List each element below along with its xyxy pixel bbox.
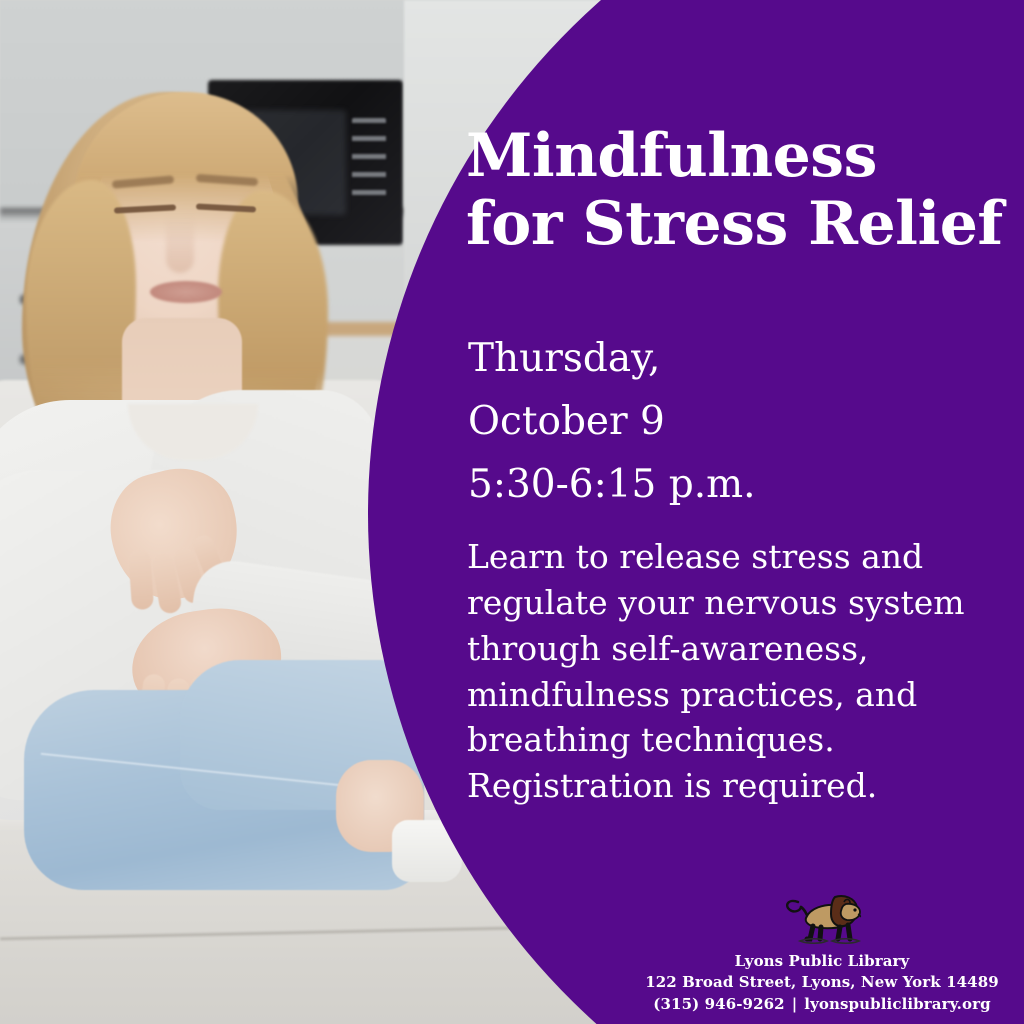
description-line-6: Registration is required. [467,763,1012,809]
description-line-5: breathing techniques. [467,717,1012,763]
event-description: Learn to release stress and regulate you… [467,534,1012,809]
lips [150,281,222,303]
title-line-2: for Stress Relief [466,189,1003,259]
footer: Lyons Public Library 122 Broad Street, L… [620,884,1024,1015]
nose [166,215,194,273]
event-day: Thursday, [468,327,1013,390]
event-date: October 9 [468,390,1013,453]
footer-phone[interactable]: (315) 946-9262 [653,995,784,1013]
footer-contact-row: (315) 946-9262|lyonspubliclibrary.org [620,994,1024,1015]
footer-website[interactable]: lyonspubliclibrary.org [804,995,990,1013]
footer-contact-block: Lyons Public Library 122 Broad Street, L… [620,951,1024,1015]
flyer-content: Mindfulness for Stress Relief Thursday, … [466,0,1011,1024]
footer-address: 122 Broad Street, Lyons, New York 14489 [620,972,1024,993]
event-datetime: Thursday, October 9 5:30-6:15 p.m. [468,327,1013,517]
page-title: Mindfulness for Stress Relief [466,122,1011,259]
description-line-1: Learn to release stress and [467,534,1012,580]
description-line-4: mindfulness practices, and [467,672,1012,718]
title-line-1: Mindfulness [466,121,877,191]
description-line-3: through self-awareness, [467,626,1012,672]
footer-organization: Lyons Public Library [620,951,1024,972]
description-line-2: regulate your nervous system [467,580,1012,626]
microwave-controls [352,118,386,208]
event-flyer: Mindfulness for Stress Relief Thursday, … [0,0,1024,1024]
lion-logo-icon [620,884,1024,946]
footer-separator: | [785,994,805,1015]
event-time: 5:30-6:15 p.m. [468,453,1013,516]
finger [128,549,154,610]
